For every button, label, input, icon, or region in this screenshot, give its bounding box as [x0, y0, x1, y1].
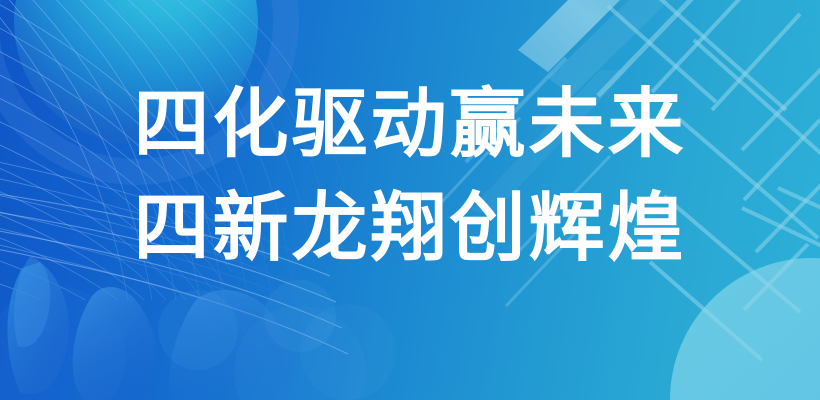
decorative-band — [518, 0, 648, 72]
headline: 四化驱动赢未来 四新龙翔创辉煌 — [0, 72, 820, 280]
decorative-petal-3 — [169, 290, 292, 400]
decorative-soft-circle-2 — [0, 286, 126, 400]
decorative-blob-mid-a — [264, 280, 336, 352]
decorative-petal-1 — [7, 262, 69, 394]
decorative-blob-mid-c — [158, 290, 238, 370]
headline-line-2: 四新龙翔创辉煌 — [0, 176, 820, 280]
promo-banner: 四化驱动赢未来 四新龙翔创辉煌 — [0, 0, 820, 400]
decorative-soft-circle — [234, 306, 366, 400]
decorative-blob-mid-b — [300, 304, 396, 400]
decorative-petal-2 — [73, 287, 158, 400]
headline-line-1: 四化驱动赢未来 — [0, 72, 820, 176]
